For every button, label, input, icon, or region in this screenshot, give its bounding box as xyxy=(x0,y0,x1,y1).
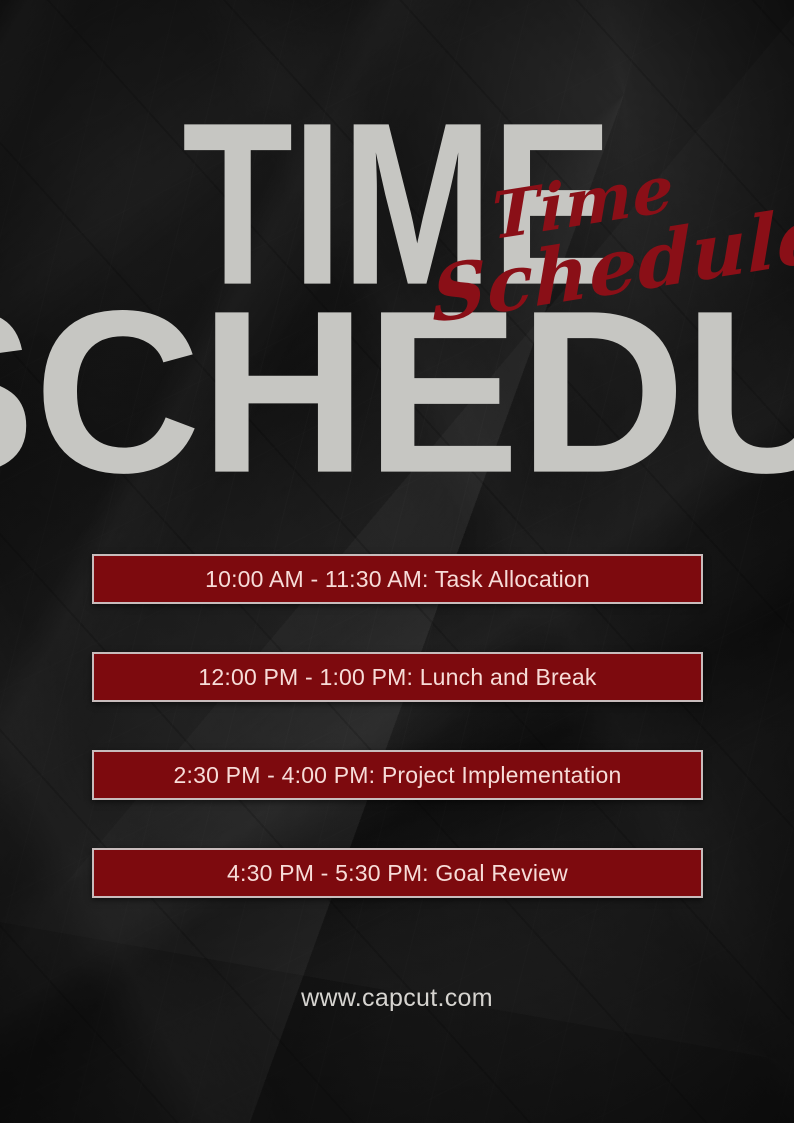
schedule-bar-item[interactable]: 12:00 PM - 1:00 PM: Lunch and Break xyxy=(92,652,703,702)
schedule-bar-label: 12:00 PM - 1:00 PM: Lunch and Break xyxy=(198,664,596,691)
poster-canvas: TIME SCHEDULE Time Schedule 10:00 AM - 1… xyxy=(0,0,794,1123)
schedule-bar-label: 2:30 PM - 4:00 PM: Project Implementatio… xyxy=(174,762,622,789)
schedule-bar-label: 10:00 AM - 11:30 AM: Task Allocation xyxy=(205,566,590,593)
schedule-bar-item[interactable]: 4:30 PM - 5:30 PM: Goal Review xyxy=(92,848,703,898)
footer-website-url[interactable]: www.capcut.com xyxy=(0,984,794,1013)
poster-content: TIME SCHEDULE Time Schedule 10:00 AM - 1… xyxy=(0,0,794,1123)
schedule-bar-label: 4:30 PM - 5:30 PM: Goal Review xyxy=(227,860,568,887)
headline-line-schedule: SCHEDULE xyxy=(0,300,794,485)
schedule-bar-item[interactable]: 2:30 PM - 4:00 PM: Project Implementatio… xyxy=(92,750,703,800)
schedule-bar-item[interactable]: 10:00 AM - 11:30 AM: Task Allocation xyxy=(92,554,703,604)
poster-title-block: TIME SCHEDULE xyxy=(0,112,794,443)
schedule-bar-list: 10:00 AM - 11:30 AM: Task Allocation 12:… xyxy=(92,554,703,898)
